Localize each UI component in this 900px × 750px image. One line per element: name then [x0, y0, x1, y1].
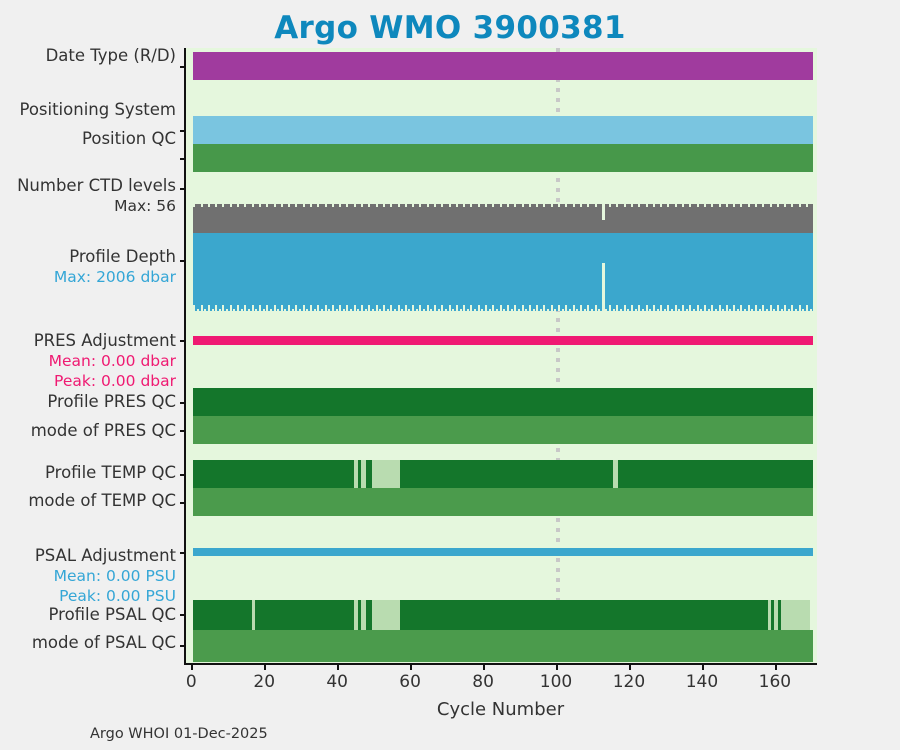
band-mode-of-pres-qc [186, 416, 817, 444]
bar-edge-notch [664, 309, 666, 311]
band-gap [361, 600, 366, 630]
y-label-number-ctd-levels: Number CTD levels [17, 178, 176, 195]
bar-edge-notch [595, 204, 597, 207]
bar-edge-notch [500, 305, 502, 311]
bar-edge-notch [445, 309, 447, 311]
bar-edge-notch [580, 305, 582, 311]
bar-edge-notch [565, 204, 567, 207]
bar-edge-notch [646, 305, 648, 311]
x-tick-label: 0 [186, 672, 197, 692]
bar-edge-notch [708, 309, 710, 311]
bar-edge-notch [325, 305, 327, 311]
band-segment [193, 416, 813, 444]
band-profile-pres-qc [186, 388, 817, 416]
bar-edge-notch [379, 309, 381, 311]
bar-edge-notch [317, 305, 319, 311]
bar-edge-notch [306, 309, 308, 311]
bar-edge-notch [598, 309, 600, 311]
bar-edge-notch [573, 305, 575, 311]
bar-edge-notch [551, 204, 553, 207]
band-segment [193, 116, 813, 144]
bar-edge-notch [744, 309, 746, 311]
bar-edge-notch [405, 305, 407, 311]
bar-edge-notch [215, 305, 217, 311]
band-date-type [186, 52, 817, 80]
bar-edge-notch [536, 204, 538, 207]
bar-edge-notch [354, 204, 356, 207]
bar-edge-notch [605, 309, 607, 311]
bar-edge-notch [576, 309, 578, 311]
bar-edge-notch [766, 309, 768, 311]
y-label-psal-adjustment-annotation: Peak: 0.00 PSU [59, 589, 176, 605]
bar-edge-notch [368, 305, 370, 311]
bar-edge-notch [230, 204, 232, 207]
bar-edge-notch [591, 309, 593, 311]
bar-edge-notch [350, 309, 352, 311]
y-label-profile-depth: Profile Depth [69, 249, 176, 266]
bar-dip [602, 263, 606, 311]
bar-edge-notch [726, 305, 728, 311]
band-position-qc [186, 144, 817, 172]
x-tick-label: 120 [613, 672, 645, 692]
y-label-profile-pres-qc: Profile PRES QC [47, 394, 176, 411]
bar-edge-notch [613, 309, 615, 311]
bar-edge-notch [274, 305, 276, 311]
bar-edge-notch [354, 305, 356, 311]
band-gap [372, 600, 400, 630]
y-tick-profile-depth [180, 260, 186, 262]
band-profile-temp-qc [186, 460, 817, 488]
band-gap [252, 600, 255, 630]
band-segment [193, 388, 813, 416]
y-tick-mode-of-psal-qc [180, 645, 186, 647]
bar-edge-notch [274, 204, 276, 207]
bar-edge-notch [584, 309, 586, 311]
bar-edge-notch [405, 204, 407, 207]
bar-edge-notch [777, 204, 779, 207]
band-pres-adjustment [186, 336, 817, 345]
bar-edge-notch [762, 305, 764, 311]
bar-edge-notch [460, 309, 462, 311]
bar-edge-notch [609, 305, 611, 311]
bar-edge-notch [259, 305, 261, 311]
x-tick-label: 160 [759, 672, 791, 692]
bar-edge-notch [518, 309, 520, 311]
bar-edge-notch [573, 204, 575, 207]
x-tick-label: 60 [399, 672, 421, 692]
bar-edge-notch [478, 305, 480, 311]
bar-edge-notch [266, 305, 268, 311]
bar-edge-notch [507, 204, 509, 207]
bar-edge-notch [230, 305, 232, 311]
y-label-pres-adjustment-annotation: Peak: 0.00 dbar [54, 374, 176, 390]
bar-edge-notch [543, 305, 545, 311]
band-mode-of-temp-qc [186, 488, 817, 516]
bar-edge-notch [441, 204, 443, 207]
bar-edge-notch [806, 204, 808, 207]
bar-edge-notch [554, 309, 556, 311]
band-segment [193, 600, 255, 630]
bar-edge-notch [193, 204, 195, 207]
band-gap [372, 460, 400, 488]
bar-edge-notch [791, 305, 793, 311]
bar-edge-notch [361, 305, 363, 311]
y-tick-profile-psal-qc [180, 614, 186, 616]
bar-edge-notch [208, 305, 210, 311]
bar-edge-notch [638, 305, 640, 311]
bar-edge-notch [394, 309, 396, 311]
x-tick [410, 663, 412, 670]
bar-edge-notch [755, 204, 757, 207]
bar-edge-notch [398, 305, 400, 311]
bar-edge-notch [729, 309, 731, 311]
bar-edge-notch [336, 309, 338, 311]
band-gap [781, 600, 809, 630]
bar-edge-notch [624, 305, 626, 311]
bar-edge-notch [810, 309, 812, 311]
bar-edge-notch [649, 309, 651, 311]
bar-edge-notch [485, 305, 487, 311]
bar-edge-notch [788, 309, 790, 311]
bar-edge-notch [368, 204, 370, 207]
bar-edge-notch [390, 204, 392, 207]
bar-edge-notch [660, 305, 662, 311]
bar-edge-notch [799, 204, 801, 207]
bar-edge-notch [693, 309, 695, 311]
bar-edge-notch [478, 204, 480, 207]
x-tick [191, 663, 193, 670]
bar-edge-notch [248, 309, 250, 311]
bar-edge-notch [770, 305, 772, 311]
bar-edge-notch [222, 204, 224, 207]
bar-edge-notch [252, 204, 254, 207]
bar-edge-notch [212, 309, 214, 311]
bar-edge-notch [201, 204, 203, 207]
bar-edge-notch [722, 309, 724, 311]
y-label-profile-psal-qc: Profile PSAL QC [48, 607, 176, 624]
y-label-psal-adjustment: PSAL Adjustment [35, 548, 176, 565]
x-tick-label: 20 [253, 672, 275, 692]
bar-edge-notch [627, 309, 629, 311]
bar-edge-notch [481, 309, 483, 311]
bar-edge-notch [737, 309, 739, 311]
bar-edge-notch [438, 309, 440, 311]
bar-edge-notch [346, 305, 348, 311]
y-tick-position-qc [180, 158, 186, 160]
bar-edge-notch [299, 309, 301, 311]
bar-edge-notch [288, 204, 290, 207]
y-tick-profile-pres-qc [180, 402, 186, 404]
band-profile-depth [186, 233, 817, 311]
bar-edge-notch [755, 305, 757, 311]
bar-edge-notch [609, 204, 611, 207]
bar-edge-notch [204, 309, 206, 311]
bar-edge-notch [784, 305, 786, 311]
bar-edge-notch [401, 309, 403, 311]
bar-edge-notch [697, 204, 699, 207]
bar-edge-notch [562, 309, 564, 311]
bar-edge-notch [372, 309, 374, 311]
band-segment [255, 600, 358, 630]
band-gap [768, 600, 771, 630]
bar-edge-notch [540, 309, 542, 311]
bar-edge-notch [740, 305, 742, 311]
y-tick-positioning-system [180, 130, 186, 132]
bar-edge-notch [697, 305, 699, 311]
bar-edge-notch [529, 204, 531, 207]
bar-edge-notch [357, 309, 359, 311]
bar-edge-notch [489, 309, 491, 311]
bar-edge-notch [536, 305, 538, 311]
x-axis-line [184, 663, 817, 665]
bar-edge-notch [616, 204, 618, 207]
bar-edge-notch [646, 204, 648, 207]
bar-edge-notch [419, 204, 421, 207]
bar-edge-notch [719, 305, 721, 311]
bar-edge-notch [376, 305, 378, 311]
band-segment [400, 600, 772, 630]
bar-edge-notch [390, 305, 392, 311]
x-tick-label: 80 [472, 672, 494, 692]
x-tick-label: 140 [686, 672, 718, 692]
band-segment [618, 460, 814, 488]
bar-edge-notch [361, 204, 363, 207]
bar-edge-notch [551, 305, 553, 311]
bar-edge-notch [770, 204, 772, 207]
bar-edge-notch [635, 309, 637, 311]
bar-edge-notch [434, 305, 436, 311]
y-label-pres-adjustment: PRES Adjustment [34, 333, 176, 350]
band-segment [193, 548, 813, 556]
bar-edge-notch [365, 309, 367, 311]
bar-edge-notch [638, 204, 640, 207]
x-tick [629, 663, 631, 670]
bar-edge-notch [704, 204, 706, 207]
bar-edge-notch [201, 305, 203, 311]
bar-edge-notch [474, 309, 476, 311]
bar-edge-notch [456, 204, 458, 207]
bar-edge-notch [310, 305, 312, 311]
bar-edge-notch [244, 305, 246, 311]
y-label-positioning-system: Positioning System [19, 102, 176, 119]
bar-edge-notch [310, 204, 312, 207]
bar-edge-notch [587, 204, 589, 207]
bar-edge-notch [642, 309, 644, 311]
bar-edge-notch [463, 305, 465, 311]
bar-edge-notch [704, 305, 706, 311]
band-segment [193, 488, 813, 516]
bar-edge-notch [751, 309, 753, 311]
bar-edge-notch [682, 305, 684, 311]
bar-edge-notch [292, 309, 294, 311]
bar-edge-notch [456, 305, 458, 311]
bar-edge-notch [733, 305, 735, 311]
bar-edge-notch [533, 309, 535, 311]
bar-edge-notch [416, 309, 418, 311]
bar-edge-notch [748, 204, 750, 207]
bar-edge-notch [799, 305, 801, 311]
bar-edge-notch [266, 204, 268, 207]
bar-edge-notch [514, 305, 516, 311]
bar-edge-notch [507, 305, 509, 311]
bar-edge-notch [595, 305, 597, 311]
bar-edge-notch [281, 204, 283, 207]
y-tick-number-ctd-levels [180, 188, 186, 190]
bar-edge-notch [233, 309, 235, 311]
bar-edge-notch [784, 204, 786, 207]
bar-edge-notch [678, 309, 680, 311]
page-title: Argo WMO 3900381 [0, 10, 900, 46]
bar-edge-notch [511, 309, 513, 311]
x-tick [702, 663, 704, 670]
bar-edge-notch [496, 309, 498, 311]
bar-edge-notch [303, 305, 305, 311]
bar-edge-notch [226, 309, 228, 311]
band-segment [193, 52, 813, 80]
bar-edge-notch [427, 204, 429, 207]
bar-edge-notch [255, 309, 257, 311]
bar-edge-notch [215, 204, 217, 207]
bar-edge-notch [558, 204, 560, 207]
bar-edge-notch [740, 204, 742, 207]
bar-edge-notch [408, 309, 410, 311]
band-segment [193, 336, 813, 345]
bar-edge-notch [321, 309, 323, 311]
bar-edge-notch [485, 204, 487, 207]
bar-edge-notch [328, 309, 330, 311]
bar-edge-notch [802, 309, 804, 311]
bar-edge-notch [748, 305, 750, 311]
bar-edge-notch [427, 305, 429, 311]
bar-edge-notch [317, 204, 319, 207]
bar-edge-notch [295, 204, 297, 207]
y-tick-profile-temp-qc [180, 474, 186, 476]
x-tick [483, 663, 485, 670]
bar-edge-notch [398, 204, 400, 207]
band-mode-of-psal-qc [186, 630, 817, 662]
bar-edge-notch [653, 204, 655, 207]
bar-edge-notch [762, 204, 764, 207]
bar-edge-notch [543, 204, 545, 207]
band-gap [354, 460, 358, 488]
y-label-mode-of-psal-qc: mode of PSAL QC [32, 635, 176, 652]
bar-edge-notch [383, 305, 385, 311]
y-tick-mode-of-temp-qc [180, 502, 186, 504]
bar-edge-notch [241, 309, 243, 311]
bar-edge-notch [547, 309, 549, 311]
bar-edge-notch [441, 305, 443, 311]
y-tick-mode-of-pres-qc [180, 430, 186, 432]
bar-edge-notch [558, 305, 560, 311]
bar-edge-notch [675, 305, 677, 311]
bar-edge-notch [387, 309, 389, 311]
bar-edge-notch [503, 309, 505, 311]
bar-edge-notch [412, 204, 414, 207]
x-tick-label: 40 [326, 672, 348, 692]
bar-edge-notch [252, 305, 254, 311]
band-psal-adjustment [186, 548, 817, 556]
bar-edge-notch [263, 309, 265, 311]
y-label-mode-of-temp-qc: mode of TEMP QC [28, 493, 176, 510]
bar-edge-notch [522, 305, 524, 311]
bar-dip [602, 204, 606, 220]
bar-edge-notch [339, 204, 341, 207]
x-axis-label: Cycle Number [184, 699, 817, 720]
y-label-date-type: Date Type (R/D) [46, 48, 176, 65]
bar-edge-notch [675, 204, 677, 207]
x-tick [337, 663, 339, 670]
bar-edge-notch [795, 309, 797, 311]
band-gap [774, 600, 777, 630]
bar-edge-notch [449, 204, 451, 207]
y-label-number-ctd-levels-annotation: Max: 56 [114, 199, 176, 215]
bar-edge-notch [726, 204, 728, 207]
bar-edge-notch [565, 305, 567, 311]
y-label-position-qc: Position QC [82, 131, 176, 148]
y-label-psal-adjustment-annotation: Mean: 0.00 PSU [54, 569, 176, 585]
band-positioning-system [186, 116, 817, 144]
bar-edge-notch [791, 204, 793, 207]
x-tick [556, 663, 558, 670]
y-tick-psal-adjustment [180, 552, 186, 554]
bar-edge-notch [197, 309, 199, 311]
band-gap [354, 600, 358, 630]
band-segment [193, 630, 813, 662]
bar-edge-notch [667, 305, 669, 311]
bar-edge-notch [587, 305, 589, 311]
bar-edge-notch [412, 305, 414, 311]
bar-edge-notch [813, 204, 815, 207]
bar-edge-notch [346, 204, 348, 207]
plot-area [184, 48, 817, 663]
y-label-mode-of-pres-qc: mode of PRES QC [31, 423, 176, 440]
bar-edge-notch [569, 309, 571, 311]
bar-edge-notch [277, 309, 279, 311]
bar-edge-notch [208, 204, 210, 207]
bar-edge-notch [733, 204, 735, 207]
bar-edge-notch [682, 204, 684, 207]
band-segment [193, 460, 357, 488]
x-tick-label: 100 [540, 672, 572, 692]
bar-edge-notch [339, 305, 341, 311]
argo-float-summary-figure: Argo WMO 3900381 Cycle Number Argo WHOI … [0, 0, 900, 750]
bar-edge-notch [332, 204, 334, 207]
bar-edge-notch [376, 204, 378, 207]
bar-edge-notch [711, 204, 713, 207]
bar-edge-notch [193, 305, 195, 311]
bar-edge-notch [580, 204, 582, 207]
bar-edge-notch [667, 204, 669, 207]
bar-edge-notch [434, 204, 436, 207]
bar-edge-notch [671, 309, 673, 311]
bar-edge-notch [657, 309, 659, 311]
band-segment [193, 233, 813, 311]
bar-edge-notch [689, 204, 691, 207]
bar-edge-notch [500, 204, 502, 207]
y-label-profile-temp-qc: Profile TEMP QC [45, 465, 176, 482]
bar-edge-notch [522, 204, 524, 207]
y-label-profile-depth-annotation: Max: 2006 dbar [54, 270, 176, 286]
bar-edge-notch [219, 309, 221, 311]
bar-edge-notch [719, 204, 721, 207]
bar-edge-notch [492, 305, 494, 311]
bar-edge-notch [806, 305, 808, 311]
band-profile-psal-qc [186, 600, 817, 630]
bar-edge-notch [529, 305, 531, 311]
bar-edge-notch [463, 204, 465, 207]
x-tick [264, 663, 266, 670]
bar-edge-notch [631, 305, 633, 311]
